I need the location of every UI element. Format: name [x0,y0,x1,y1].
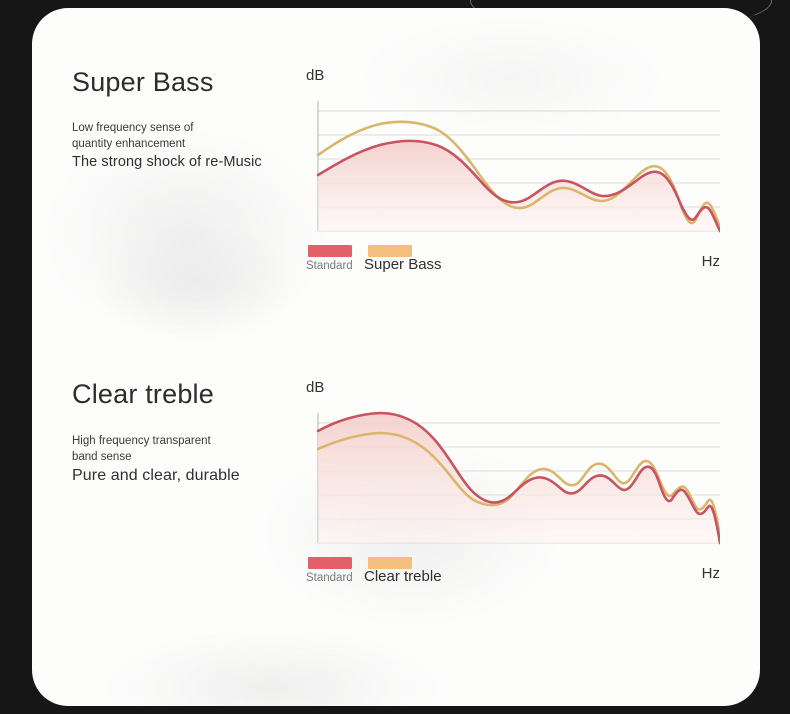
super-bass-chart: dB [302,68,722,285]
clear-treble-legend: Standard Clear treble Hz [302,557,722,597]
super-bass-tagline: The strong shock of re-Music [72,153,322,172]
section-clear-treble: Clear treble High frequency transparent … [32,380,760,640]
clear-treble-title: Clear treble [72,380,322,410]
super-bass-plot-area [302,89,720,237]
super-bass-legend: Standard Super Bass Hz [302,245,722,285]
super-bass-standard-area [318,141,720,231]
super-bass-plot-svg [302,89,720,237]
super-bass-title: Super Bass [72,68,322,98]
clear-treble-legend-label-mode: Clear treble [364,568,442,586]
super-bass-legend-label-mode: Super Bass [364,256,442,274]
clear-treble-tagline: Pure and clear, durable [72,466,322,487]
super-bass-x-axis-label: Hz [702,254,720,269]
clear-treble-subtitle: High frequency transparent band sense [72,433,322,466]
super-bass-text-column: Super Bass Low frequency sense of quanti… [72,68,322,172]
section-super-bass: Super Bass Low frequency sense of quanti… [32,68,760,328]
feature-card: Super Bass Low frequency sense of quanti… [32,8,760,706]
super-bass-y-axis-label: dB [306,68,722,83]
clear-treble-plot-svg [302,401,720,549]
super-bass-legend-label-standard: Standard [306,260,353,274]
clear-treble-plot-area [302,401,720,549]
clear-treble-legend-swatch-standard [308,557,352,569]
clear-treble-legend-label-standard: Standard [306,572,353,586]
clear-treble-chart: dB [302,380,722,597]
clear-treble-x-axis-label: Hz [702,566,720,581]
super-bass-subtitle: Low frequency sense of quantity enhancem… [72,120,322,153]
clear-treble-y-axis-label: dB [306,380,722,395]
super-bass-legend-swatch-standard [308,245,352,257]
page-background: Super Bass Low frequency sense of quanti… [0,0,790,714]
clear-treble-text-column: Clear treble High frequency transparent … [72,380,322,487]
